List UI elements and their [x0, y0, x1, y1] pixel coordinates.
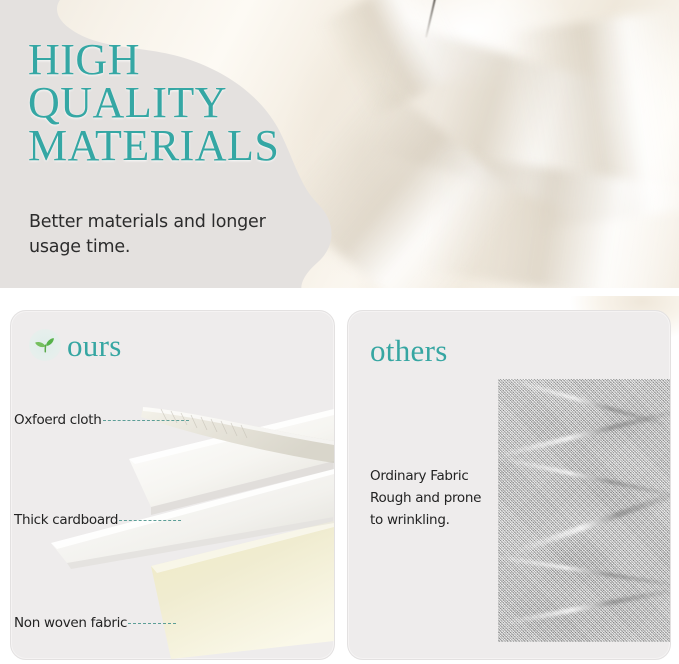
callout-non-woven-fabric: Non woven fabric [14, 615, 176, 631]
fabric-wrinkle [498, 553, 670, 588]
callout-oxford-cloth-text: Oxfoerd cloth [14, 412, 102, 428]
callout-oxford-cloth: Oxfoerd cloth [14, 412, 189, 428]
card-others[interactable]: others Ordinary Fabric Rough and prone t… [347, 310, 671, 660]
hero-title: HIGH QUALITY MATERIALS [28, 38, 328, 167]
hero-subtitle: Better materials and longer usage time. [29, 210, 319, 261]
callout-thick-cardboard: Thick cardboard [14, 512, 181, 528]
hero-section: HIGH QUALITY MATERIALS Better materials … [0, 0, 679, 292]
fabric-wrinkle [512, 488, 670, 555]
hero-title-line-2: QUALITY [28, 81, 328, 124]
leaf-sprout-icon [29, 329, 61, 361]
fabric-wrinkle [498, 407, 670, 460]
others-line-1: Ordinary Fabric [370, 466, 490, 488]
hero-title-line-1: HIGH [28, 38, 328, 81]
leader-line [119, 520, 181, 521]
rough-fabric-texture [498, 379, 670, 642]
callout-thick-cardboard-text: Thick cardboard [14, 512, 118, 528]
others-header: others [370, 335, 448, 366]
hero-title-line-3: MATERIALS [28, 124, 328, 167]
comparison-cards: ours others Ordinary Fabric Rough and pr… [0, 310, 679, 664]
fabric-wrinkle [498, 455, 670, 498]
card-ours[interactable]: ours [10, 310, 335, 660]
ours-header: ours [29, 329, 122, 361]
fabric-wrinkle [499, 586, 670, 626]
ours-title: ours [67, 330, 122, 361]
leader-line [128, 623, 176, 624]
leader-line [103, 420, 189, 421]
others-title: others [370, 335, 448, 366]
callout-non-woven-fabric-text: Non woven fabric [14, 615, 127, 631]
promo-infographic: HIGH QUALITY MATERIALS Better materials … [0, 0, 679, 664]
others-line-2: Rough and prone [370, 488, 490, 510]
others-description: Ordinary Fabric Rough and prone to wrink… [370, 466, 490, 532]
others-line-3: to wrinkling. [370, 510, 490, 532]
layered-material-illustration [11, 311, 334, 659]
